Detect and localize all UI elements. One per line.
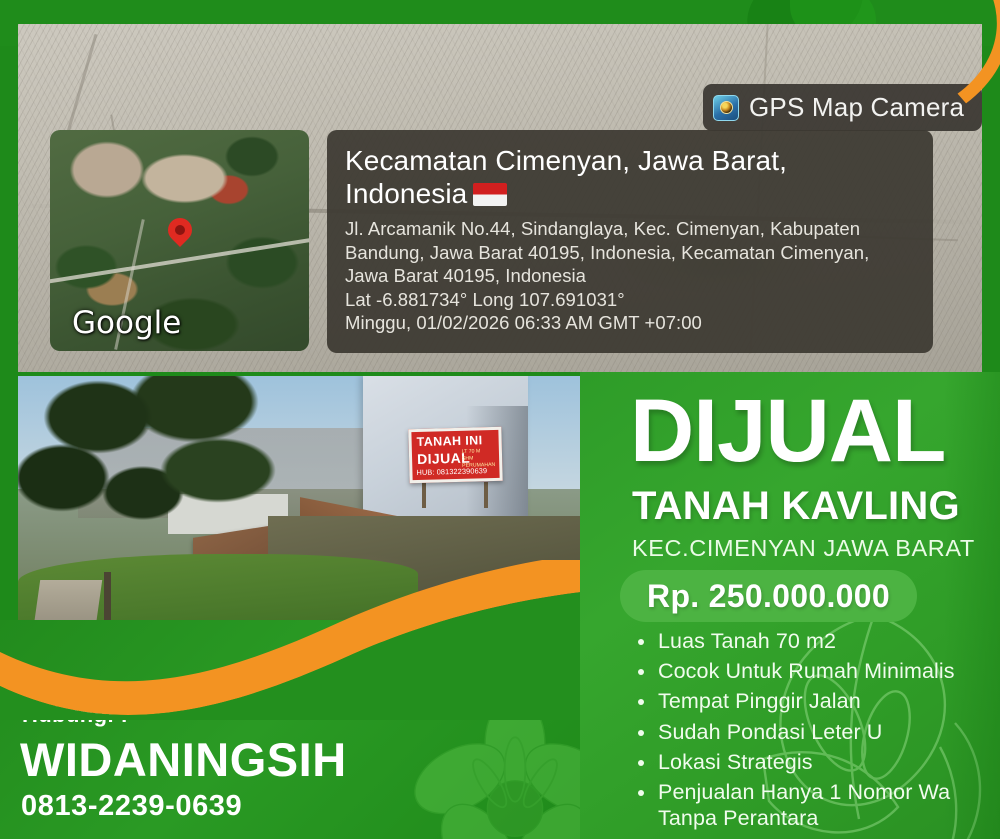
price-value: Rp. 250.000.000	[647, 578, 890, 615]
camera-app-icon	[713, 95, 739, 121]
list-item: Tempat Pinggir Jalan	[632, 688, 972, 714]
tanah-dijual-sign: TANAH INI DIJUAL LT 70 MSHMPERUMAHAN HUB…	[408, 427, 502, 483]
subheadline-tanah-kavling: TANAH KAVLING	[632, 484, 960, 529]
list-item: Luas Tanah 70 m2	[632, 628, 972, 654]
gps-coordinates: Lat -6.881734° Long 107.691031°	[345, 288, 915, 311]
sale-sign-posts	[418, 482, 492, 508]
google-map-thumbnail: Google	[50, 130, 309, 351]
gps-info-card: Kecamatan Cimenyan, Jawa Barat, Indonesi…	[327, 130, 933, 353]
gps-detail-lines: Jl. Arcamanik No.44, Sindanglaya, Kec. C…	[345, 217, 915, 334]
camera-lens-icon	[720, 101, 733, 114]
list-item: Cocok Untuk Rumah Minimalis	[632, 658, 972, 684]
sale-sign-line-1: TANAH INI	[416, 434, 482, 448]
map-location-pin-icon	[163, 213, 197, 247]
photo-tree-canopy	[18, 376, 308, 550]
listing-location: KEC.CIMENYAN JAWA BARAT	[632, 535, 975, 562]
gps-address-line-1: Jl. Arcamanik No.44, Sindanglaya, Kec. C…	[345, 217, 915, 240]
headline-dijual: DIJUAL	[630, 386, 945, 475]
gps-address-line-3: Jawa Barat 40195, Indonesia	[345, 264, 915, 287]
gps-location-title: Kecamatan Cimenyan, Jawa Barat, Indonesi…	[345, 144, 915, 210]
property-listing-poster: GPS Map Camera Google Kecamatan Cimenyan…	[0, 0, 1000, 839]
gps-location-title-text: Kecamatan Cimenyan, Jawa Barat, Indonesi…	[345, 145, 787, 209]
orange-wave-divider	[0, 560, 600, 720]
seller-name: WIDANINGSIH	[20, 732, 347, 787]
list-item: Penjualan Hanya 1 Nomor Wa Tanpa Peranta…	[632, 779, 972, 831]
listing-panel: DIJUAL TANAH KAVLING KEC.CIMENYAN JAWA B…	[580, 372, 1000, 839]
list-item: Lokasi Strategis	[632, 749, 972, 775]
price-badge: Rp. 250.000.000	[620, 570, 917, 622]
google-watermark: Google	[72, 305, 181, 341]
gps-timestamp: Minggu, 01/02/2026 06:33 AM GMT +07:00	[345, 311, 915, 334]
sale-sign-contact: HUB: 081322390639	[416, 466, 487, 477]
gps-address-line-2: Bandung, Jawa Barat 40195, Indonesia, Ke…	[345, 241, 915, 264]
feature-list: Luas Tanah 70 m2 Cocok Untuk Rumah Minim…	[632, 628, 972, 836]
seller-phone[interactable]: 0813-2239-0639	[21, 790, 242, 823]
indonesia-flag-icon	[473, 183, 507, 206]
list-item: Sudah Pondasi Leter U	[632, 719, 972, 745]
